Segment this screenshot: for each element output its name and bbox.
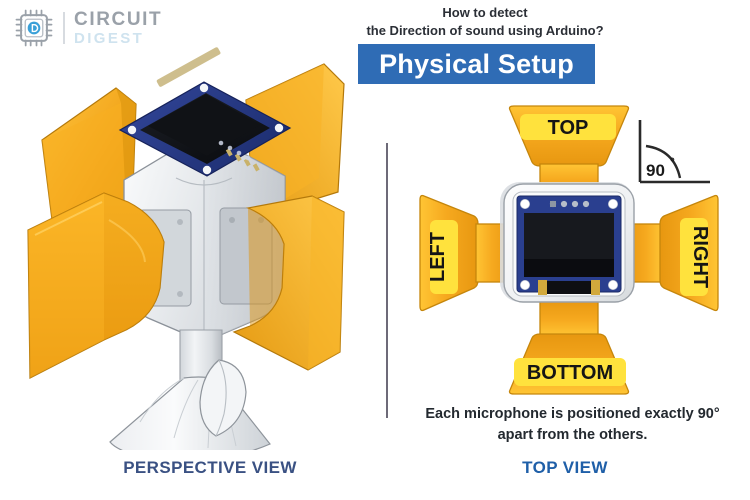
section-banner: Physical Setup: [358, 44, 595, 84]
caption-top-view: TOP VIEW: [440, 458, 690, 478]
top-view-note: Each microphone is positioned exactly 90…: [405, 404, 740, 446]
perspective-view-illustration: [8, 30, 368, 450]
top-view-illustration: TOP BOTTOM LEFT RIGHT: [412, 100, 742, 400]
microphone-label-bottom: BOTTOM: [527, 362, 613, 384]
brand-name-line1: CIRCUIT: [74, 10, 162, 29]
microphone-label-left: LEFT: [427, 232, 449, 282]
caption-perspective-view: PERSPECTIVE VIEW: [60, 458, 360, 478]
note-line-1: Each microphone is positioned exactly 90…: [405, 404, 740, 425]
horn-front-right: [234, 196, 344, 370]
title-line-2: the Direction of sound using Arduino?: [345, 22, 625, 40]
microphone-horn-bottom: BOTTOM: [510, 300, 629, 394]
infographic-root: CIRCUIT DIGEST How to detect the Directi…: [0, 0, 750, 500]
microphone-horn-right: RIGHT: [626, 196, 718, 311]
microphone-label-top: TOP: [548, 117, 589, 139]
microphone-label-right: RIGHT: [689, 226, 711, 288]
title-line-1: How to detect: [345, 4, 625, 22]
oled-display-top-view: [517, 196, 621, 295]
page-title: How to detect the Direction of sound usi…: [345, 4, 625, 41]
angle-annotation-90: 90 °: [640, 120, 710, 182]
note-line-2: apart from the others.: [405, 425, 740, 446]
angle-value-label: 90: [646, 161, 665, 180]
horn-front-left: [28, 193, 164, 378]
panel-divider: [386, 143, 388, 418]
angle-degree-symbol: °: [670, 155, 675, 169]
section-banner-label: Physical Setup: [379, 49, 574, 80]
microphone-horn-left: LEFT: [420, 196, 512, 311]
